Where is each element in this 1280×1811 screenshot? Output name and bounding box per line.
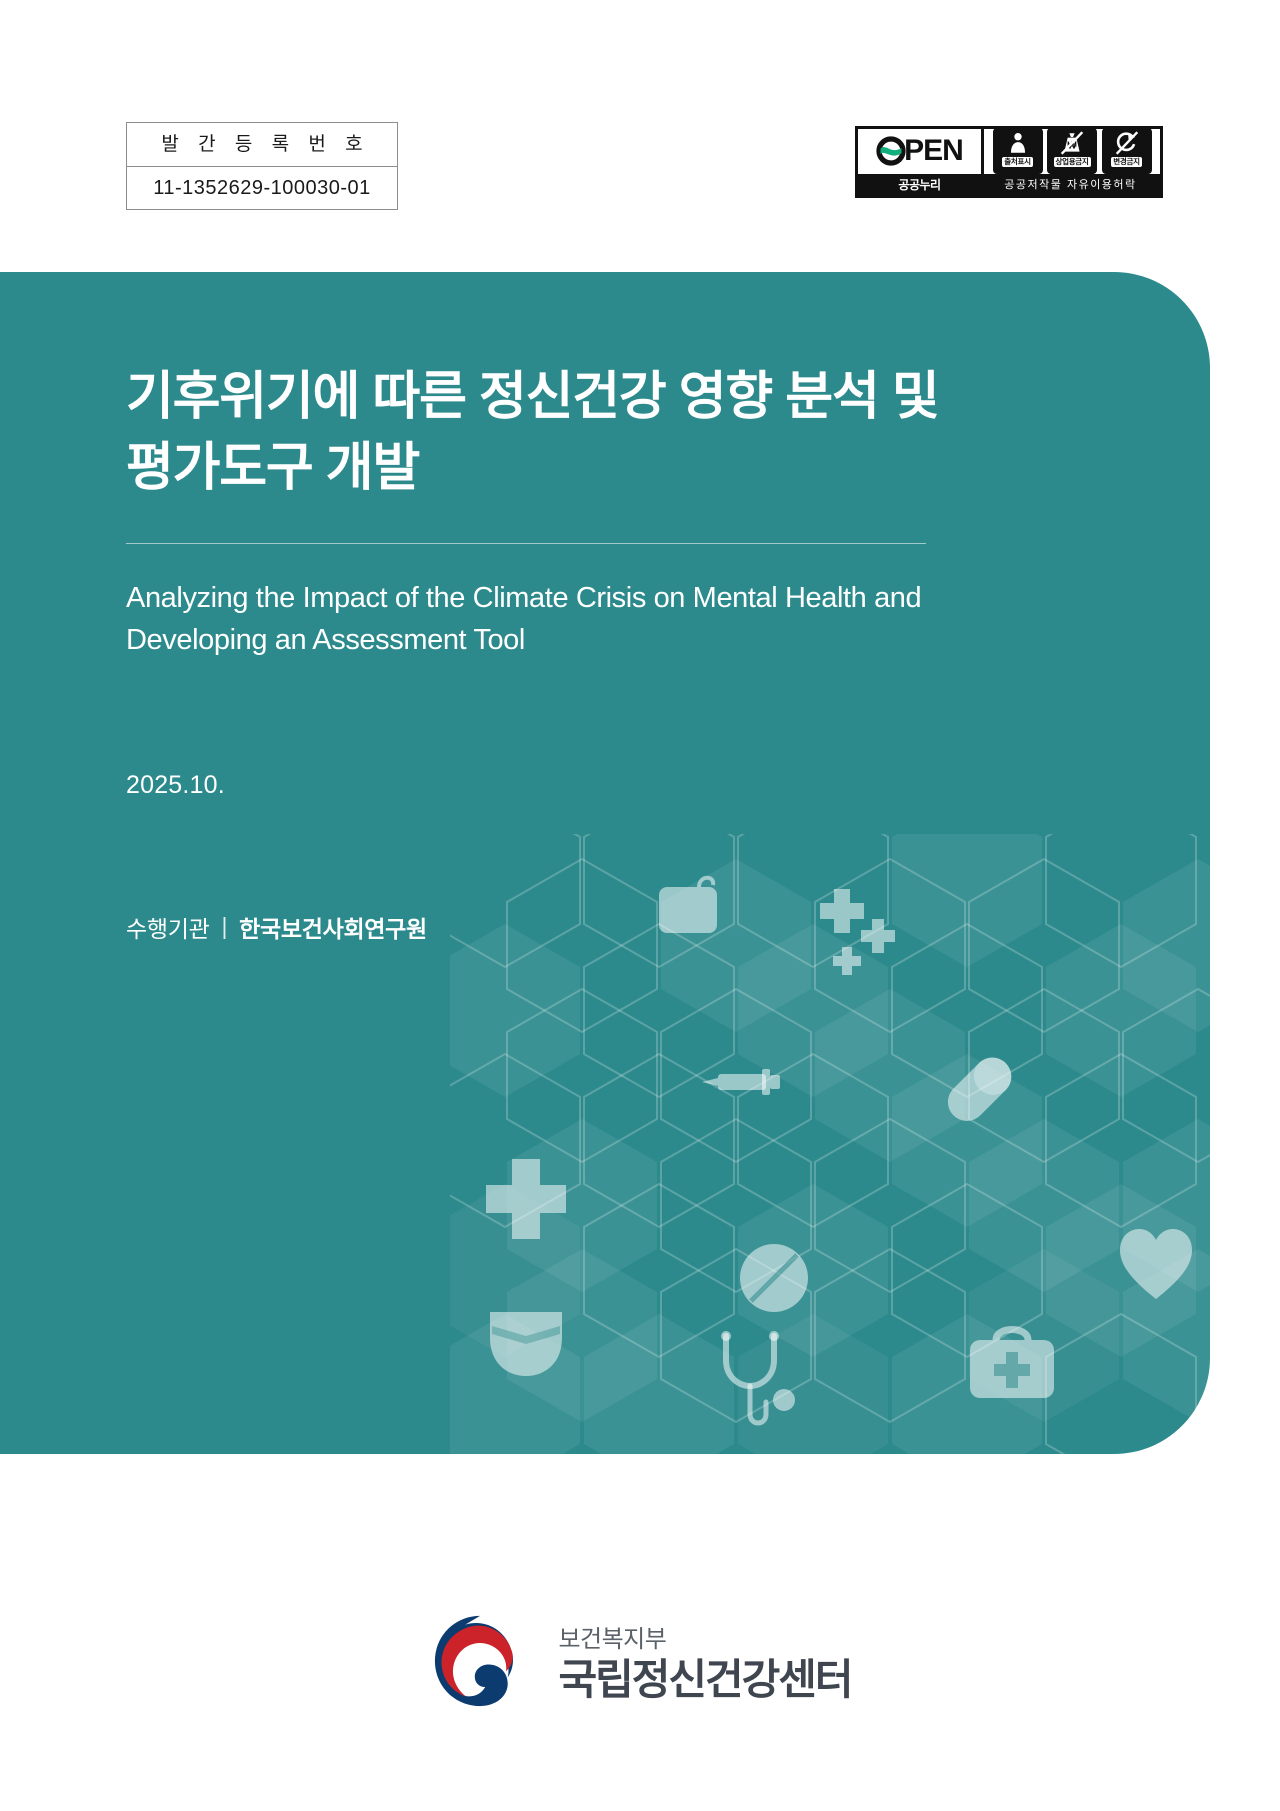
org-separator: | xyxy=(221,913,227,940)
cross-icon xyxy=(486,1159,566,1239)
org-label: 수행기관 xyxy=(126,910,209,944)
publication-date: 2025.10. xyxy=(126,771,946,800)
publication-registration-label: 발 간 등 록 번 호 xyxy=(127,123,397,167)
stethoscope-icon xyxy=(721,1331,795,1423)
no-commercial-use-icon: ₩ 상업용금지 xyxy=(1047,128,1097,174)
org-name: 한국보건사회연구원 xyxy=(239,910,427,944)
page-subtitle: Analyzing the Impact of the Climate Cris… xyxy=(126,578,946,660)
attribution-icon: 출처표시 xyxy=(993,128,1043,174)
first-aid-kit-icon xyxy=(970,1330,1054,1399)
face-mask-icon xyxy=(490,1312,562,1376)
no-derivatives-icon: 변경금지 xyxy=(1102,128,1152,174)
hex-icon-glyphs xyxy=(486,878,1192,1423)
cover-header: 발 간 등 록 번 호 11-1352629-100030-01 PEN xyxy=(0,0,1280,240)
kogl-tagline: 공공저작물 자유이용허락 xyxy=(981,176,1160,192)
kogl-badge-footer: 공공누리 공공저작물 자유이용허락 xyxy=(858,174,1160,195)
cover-text-block: 기후위기에 따른 정신건강 영향 분석 및 평가도구 개발 Analyzing … xyxy=(126,362,946,944)
performing-organization: 수행기관 | 한국보건사회연구원 xyxy=(126,910,946,944)
cover-hero-panel: 기후위기에 따른 정신건강 영향 분석 및 평가도구 개발 Analyzing … xyxy=(0,272,1210,1454)
pill-icon xyxy=(740,1244,808,1312)
no-commercial-use-label: 상업용금지 xyxy=(1054,157,1091,167)
kogl-open-logo: PEN xyxy=(858,129,984,174)
syringe-icon xyxy=(702,1069,780,1095)
footer-text: 보건복지부 국립정신건강센터 xyxy=(558,1619,851,1702)
title-divider xyxy=(126,543,926,544)
center-name: 국립정신건강센터 xyxy=(558,1658,851,1702)
ministry-name: 보건복지부 xyxy=(558,1619,851,1654)
footer-logo-block: 보건복지부 국립정신건강센터 xyxy=(0,1596,1280,1726)
no-change-glyph-icon xyxy=(1114,130,1140,156)
attribution-label: 출처표시 xyxy=(1002,157,1032,167)
kogl-license-badge: PEN 출처표시 ₩ xyxy=(855,126,1163,198)
open-circle-icon xyxy=(876,136,906,166)
person-glyph-icon xyxy=(1005,130,1031,156)
kogl-brand-label: 공공누리 xyxy=(858,176,981,193)
capsule-icon xyxy=(940,1050,1019,1129)
publication-registration-box: 발 간 등 록 번 호 11-1352629-100030-01 xyxy=(126,122,398,210)
heart-icon xyxy=(1120,1229,1192,1299)
kogl-open-text: PEN xyxy=(904,136,963,166)
cover-page: 발 간 등 록 번 호 11-1352629-100030-01 PEN xyxy=(0,0,1280,1811)
kogl-badge-top: PEN 출처표시 ₩ xyxy=(858,129,1160,174)
no-derivatives-label: 변경금지 xyxy=(1111,157,1141,167)
publication-registration-number: 11-1352629-100030-01 xyxy=(127,167,397,209)
page-title: 기후위기에 따른 정신건강 영향 분석 및 평가도구 개발 xyxy=(126,362,946,503)
taeguk-logo xyxy=(428,1609,532,1713)
kogl-icon-row: 출처표시 ₩ 상업용금지 xyxy=(984,129,1160,174)
money-bag-slash-glyph-icon: ₩ xyxy=(1059,130,1085,156)
